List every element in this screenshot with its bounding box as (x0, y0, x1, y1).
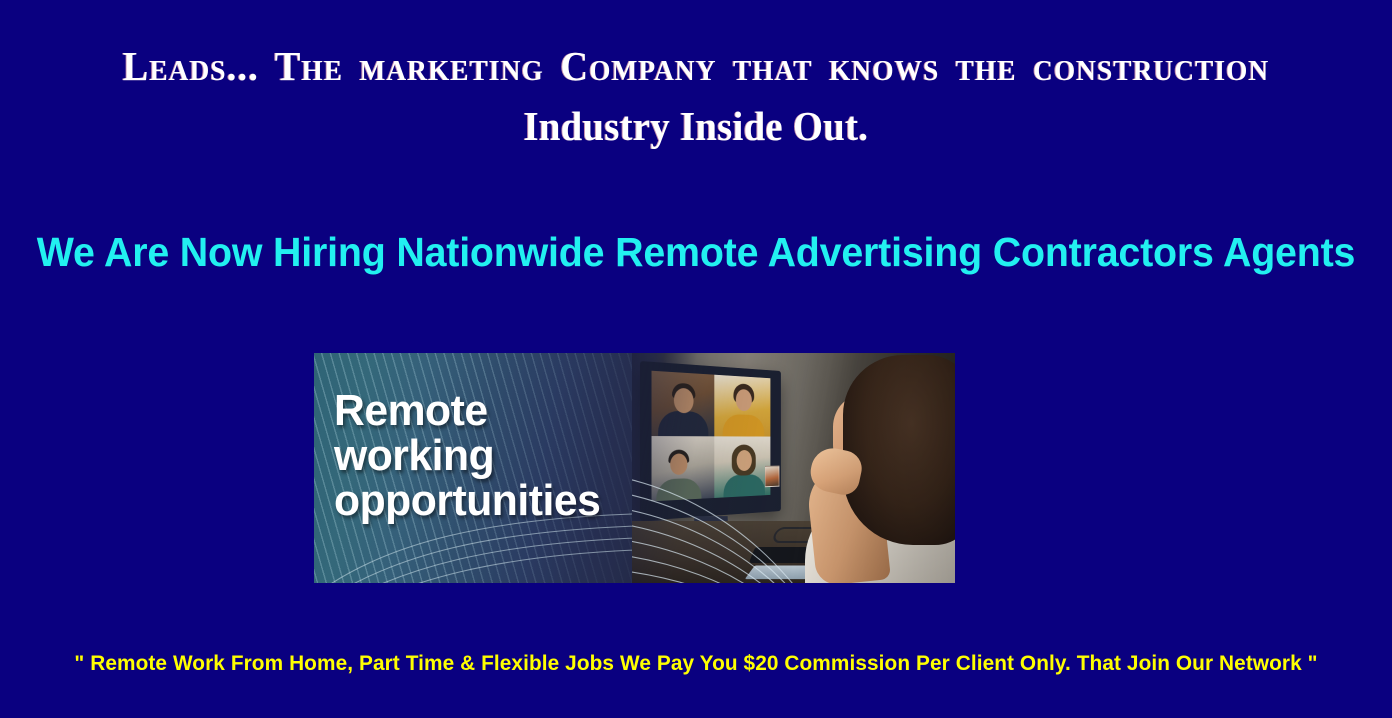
banner-caption-line-2: opportunities (334, 479, 615, 524)
participant-tile-1 (652, 371, 715, 437)
participant-tile-4 (714, 436, 770, 498)
banner-graphic-panel: Remote working opportunities (314, 353, 632, 583)
hiring-heading: We Are Now Hiring Nationwide Remote Adve… (28, 229, 1364, 276)
tagline: " Remote Work From Home, Part Time & Fle… (7, 652, 1385, 676)
headline-line-2: Industry Inside Out. (42, 104, 1350, 150)
video-call-grid (652, 371, 771, 502)
page-title: Leads... The marketing Company that know… (0, 44, 1392, 150)
self-view-thumbnail (765, 466, 779, 488)
video-call-photo (632, 353, 955, 583)
participant-tile-2 (714, 375, 770, 437)
woman-on-call (789, 353, 955, 583)
headline-line-1: Leads... The marketing Company that know… (42, 44, 1350, 90)
monitor (640, 361, 781, 521)
promo-page: Leads... The marketing Company that know… (0, 0, 1392, 718)
remote-working-banner[interactable]: Remote working opportunities (314, 353, 955, 583)
banner-caption: Remote working opportunities (334, 389, 615, 524)
banner-caption-line-1: Remote working (334, 389, 615, 479)
participant-tile-3 (652, 436, 715, 501)
